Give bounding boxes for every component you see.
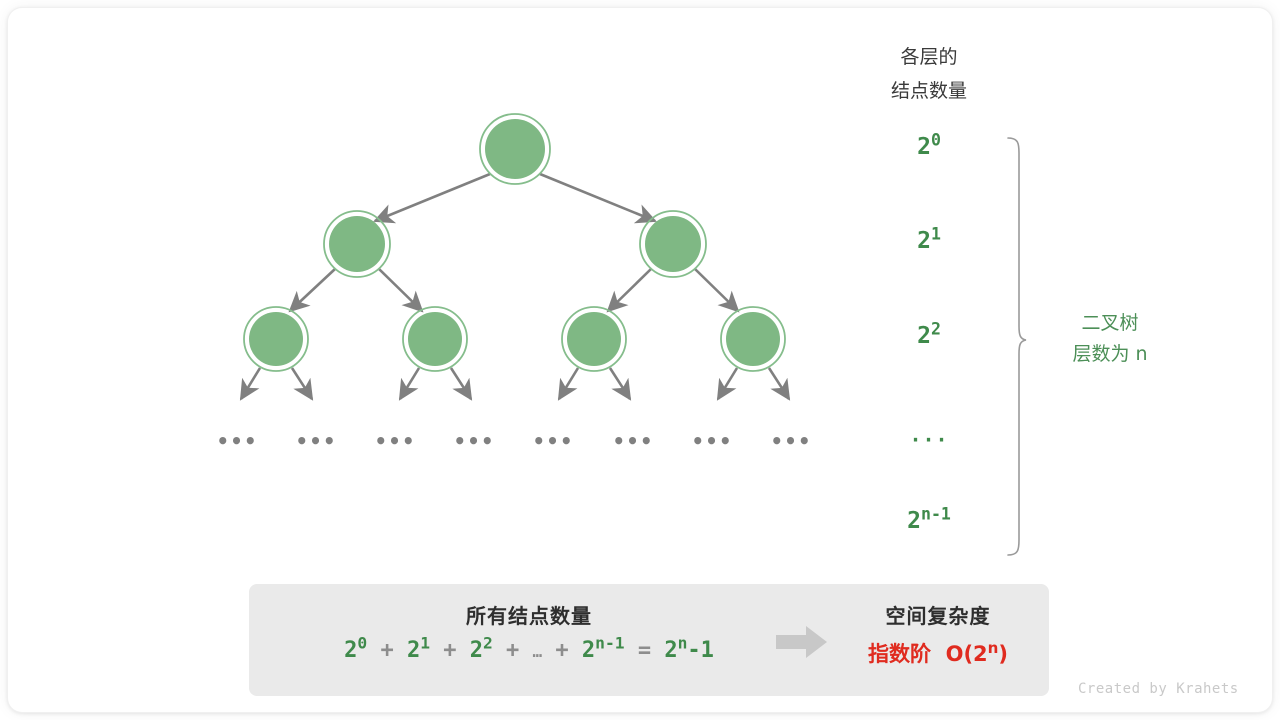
leaf-ellipsis: ••• bbox=[691, 429, 733, 453]
column-header-line2: 结点数量 bbox=[854, 74, 1004, 108]
term-2-exp: 1 bbox=[420, 634, 430, 653]
level-ellipsis-glyph: ··· bbox=[909, 428, 948, 452]
formula-op-2: + bbox=[443, 638, 456, 663]
level-0-count: 20 bbox=[854, 134, 1004, 160]
column-header-line1: 各层的 bbox=[854, 40, 1004, 74]
formula-op-1: + bbox=[380, 638, 393, 663]
formula-ellipsis: … bbox=[533, 642, 543, 661]
tree-node-l2-1 bbox=[244, 307, 308, 371]
edge-l2a-right bbox=[292, 368, 312, 399]
edge-l1a-right bbox=[379, 269, 422, 311]
edge-l2b-left bbox=[400, 368, 419, 399]
tree-node-l2-2 bbox=[403, 307, 467, 371]
edge-l1a-left bbox=[290, 269, 335, 311]
space-complexity-value: 指数阶 O(2n) bbox=[838, 638, 1038, 668]
edge-l2c-right bbox=[610, 368, 630, 399]
tree-node-l2-3 bbox=[562, 307, 626, 371]
term-1-exp: 0 bbox=[357, 634, 367, 653]
level-2-base: 2 bbox=[917, 323, 931, 349]
space-complexity-title: 空间复杂度 bbox=[838, 600, 1038, 629]
leaf-ellipsis: ••• bbox=[532, 429, 574, 453]
formula-op-4: + bbox=[555, 638, 568, 663]
leaf-ellipsis: ••• bbox=[612, 429, 654, 453]
level-last-exp: n-1 bbox=[921, 504, 951, 523]
big-o-suffix: ) bbox=[998, 642, 1008, 666]
formula-result-base: 2 bbox=[664, 638, 677, 663]
term-1-base: 2 bbox=[344, 638, 357, 663]
leaf-ellipsis-row: ••• ••• ••• ••• ••• ••• ••• ••• bbox=[8, 429, 1272, 455]
level-1-base: 2 bbox=[917, 228, 931, 254]
level-range-brace bbox=[1008, 138, 1026, 555]
tree-node-l1-right bbox=[640, 211, 706, 277]
edge-l2d-left bbox=[718, 368, 737, 399]
leaf-ellipsis: ••• bbox=[295, 429, 337, 453]
leaf-ellipsis: ••• bbox=[453, 429, 495, 453]
tree-edges bbox=[241, 174, 789, 399]
formula-result-exp: n bbox=[678, 634, 688, 653]
big-o-prefix: O(2 bbox=[946, 642, 988, 666]
term-3-exp: 2 bbox=[483, 634, 493, 653]
term-4-base: 2 bbox=[582, 638, 595, 663]
edge-l2d-right bbox=[769, 368, 789, 399]
level-last-base: 2 bbox=[907, 508, 921, 534]
level-0-exp: 0 bbox=[931, 130, 941, 149]
level-0-base: 2 bbox=[917, 134, 931, 160]
tree-nodes bbox=[244, 114, 785, 371]
leaf-ellipsis: ••• bbox=[216, 429, 258, 453]
term-4-exp: n-1 bbox=[595, 634, 624, 653]
edge-l1b-left bbox=[608, 269, 651, 311]
summary-right: 空间复杂度 指数阶 O(2n) bbox=[838, 600, 1038, 668]
brace-caption-line2: 层数为 n bbox=[1030, 339, 1190, 370]
big-o-exp: n bbox=[988, 639, 999, 657]
edge-root-left bbox=[375, 174, 490, 221]
edge-l2c-left bbox=[559, 368, 578, 399]
tree-node-l2-4 bbox=[721, 307, 785, 371]
level-last-count: 2n-1 bbox=[854, 508, 1004, 534]
term-3-base: 2 bbox=[470, 638, 483, 663]
level-ellipsis: ··· bbox=[854, 428, 1004, 452]
level-1-exp: 1 bbox=[931, 224, 941, 243]
total-nodes-formula: 20 + 21 + 22 + … + 2n-1 = 2n-1 bbox=[249, 638, 809, 663]
total-nodes-title: 所有结点数量 bbox=[249, 600, 809, 629]
brace-caption-line1: 二叉树 bbox=[1030, 308, 1190, 339]
term-2-base: 2 bbox=[407, 638, 420, 663]
complexity-order-label: 指数阶 bbox=[868, 642, 931, 666]
level-2-exp: 2 bbox=[931, 319, 941, 338]
footer-credit: Created by Krahets bbox=[1078, 681, 1239, 697]
edge-l2b-right bbox=[451, 368, 471, 399]
edge-l2a-left bbox=[241, 368, 260, 399]
summary-left: 所有结点数量 20 + 21 + 22 + … + 2n-1 = 2n-1 bbox=[249, 600, 809, 663]
level-2-count: 22 bbox=[854, 323, 1004, 349]
leaf-ellipsis: ••• bbox=[374, 429, 416, 453]
tree-node-l1-left bbox=[324, 211, 390, 277]
level-1-count: 21 bbox=[854, 228, 1004, 254]
edge-root-right bbox=[540, 174, 655, 221]
column-header: 各层的 结点数量 bbox=[854, 40, 1004, 108]
tree-node-root bbox=[480, 114, 550, 184]
leaf-ellipsis: ••• bbox=[770, 429, 812, 453]
right-arrow-icon bbox=[776, 625, 828, 659]
formula-op-3: + bbox=[506, 638, 519, 663]
brace-caption: 二叉树 层数为 n bbox=[1030, 308, 1190, 370]
formula-equals: = bbox=[638, 638, 651, 663]
formula-result-tail: -1 bbox=[687, 638, 714, 663]
edge-l1b-right bbox=[695, 269, 738, 311]
diagram-canvas: ••• ••• ••• ••• ••• ••• ••• ••• 各层的 结点数量… bbox=[8, 8, 1272, 712]
